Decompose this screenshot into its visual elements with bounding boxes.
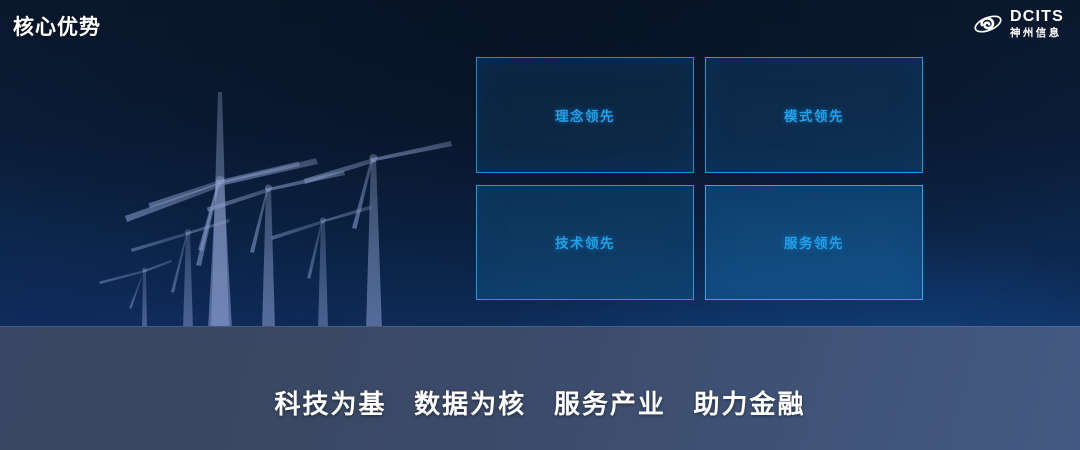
- advantage-card-2[interactable]: 模式领先: [705, 57, 923, 173]
- logo-text-chinese: 神州信息: [1010, 28, 1064, 39]
- galaxy-swirl-icon: [972, 10, 1004, 38]
- turbine-small-left: [99, 260, 172, 330]
- footer-tagline: 科技为基 数据为核 服务产业 助力金融: [0, 384, 1080, 421]
- logo-text-english: DCITS: [1010, 9, 1064, 25]
- turbine-tallest: [125, 92, 318, 330]
- advantage-card-3-label: 技术领先: [555, 232, 615, 252]
- wind-turbines-illustration: [0, 0, 470, 330]
- advantage-card-1-label: 理念领先: [555, 105, 615, 125]
- logo-wordmark: DCITS 神州信息: [1010, 9, 1064, 39]
- advantage-card-3[interactable]: 技术领先: [476, 185, 694, 301]
- advantage-card-4[interactable]: 服务领先: [705, 185, 923, 301]
- page-title: 核心优势: [13, 11, 101, 41]
- advantage-card-grid: 理念领先 模式领先 技术领先 服务领先: [476, 57, 923, 300]
- advantage-card-4-label: 服务领先: [784, 232, 844, 252]
- slide-core-advantages: 核心优势 DCITS 神州信息 理念领先 模式领先 技术领先 服务领先: [0, 0, 1080, 450]
- brand-logo: DCITS 神州信息: [972, 9, 1064, 39]
- advantage-card-2-label: 模式领先: [784, 105, 844, 125]
- advantage-card-1[interactable]: 理念领先: [476, 57, 694, 173]
